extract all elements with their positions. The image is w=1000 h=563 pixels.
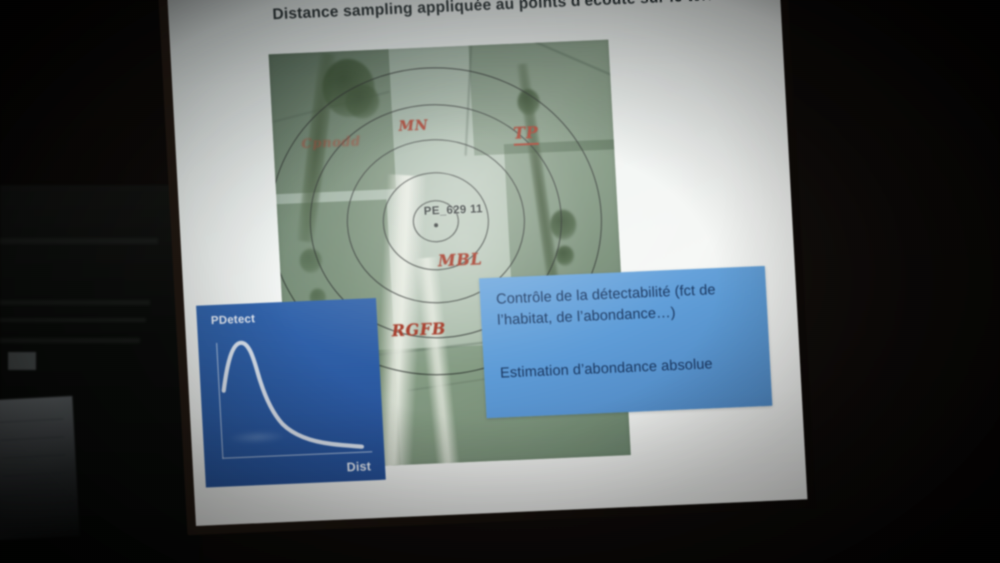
annotation-rgfb: RGFB <box>391 319 446 340</box>
listening-point-label: PE_629 11 <box>424 203 484 218</box>
shelf-edge <box>0 338 140 343</box>
callout-line-1: Contrôle de la détectabilité (fct de l’h… <box>496 278 756 330</box>
projection-screen: Distance sampling appliquée au points d'… <box>166 0 808 526</box>
annotation-mn: MN <box>398 118 428 135</box>
annotation-faint-left: Cpnodd <box>301 134 361 152</box>
paper-sheet <box>0 396 80 540</box>
annotation-mbl: MBL <box>437 249 482 270</box>
screenshot-root: Distance sampling appliquée au points d'… <box>0 0 1000 563</box>
callout-line-2: Estimation d’abondance absolue <box>500 352 759 384</box>
presentation-slide: Distance sampling appliquée au points d'… <box>166 0 808 526</box>
pdetect-plot-area <box>216 328 373 458</box>
listening-point-marker <box>434 223 438 227</box>
callout-box: Contrôle de la détectabilité (fct de l’h… <box>479 266 772 418</box>
pdetect-y-axis-label: PDetect <box>211 313 256 327</box>
shelf-label-tag <box>8 352 36 370</box>
pdetect-x-axis-label: Dist <box>346 459 371 474</box>
slide-title: Distance sampling appliquée au points d'… <box>272 0 807 24</box>
annotation-tp: TP <box>513 123 539 146</box>
shelf-edge <box>0 238 158 244</box>
pdetect-chart: PDetect Dist <box>196 298 386 488</box>
shelf-edge <box>0 318 146 322</box>
shelf-edge <box>0 300 150 305</box>
